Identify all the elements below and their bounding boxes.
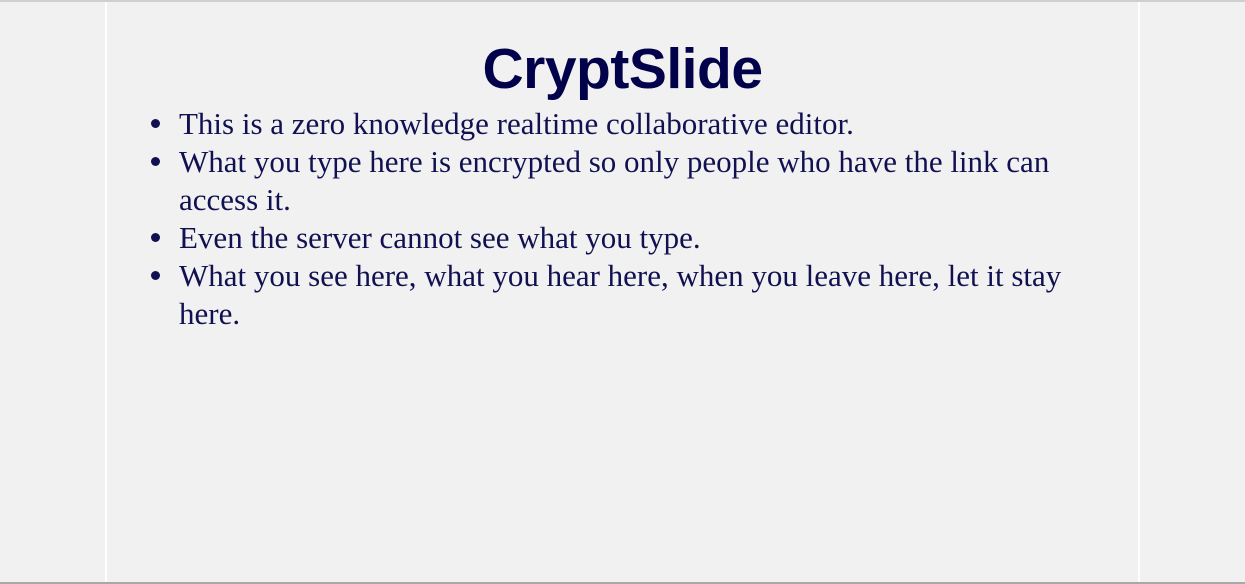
slide-canvas[interactable]: CryptSlide This is a zero knowledge real… — [105, 2, 1140, 582]
slide-bullet-list: This is a zero knowledge realtime collab… — [107, 105, 1138, 333]
bullet-dot-icon — [151, 157, 160, 166]
slide-gutter-right — [1140, 2, 1245, 582]
presentation-viewport: CryptSlide This is a zero knowledge real… — [0, 0, 1245, 584]
list-item[interactable]: This is a zero knowledge realtime collab… — [107, 105, 1138, 143]
bullet-dot-icon — [151, 119, 160, 128]
list-item-text: Even the server cannot see what you type… — [179, 219, 1096, 257]
list-item[interactable]: What you type here is encrypted so only … — [107, 143, 1138, 219]
slide-title[interactable]: CryptSlide — [107, 2, 1138, 98]
slide-gutter-left — [0, 2, 105, 582]
bullet-dot-icon — [151, 233, 160, 242]
list-item[interactable]: What you see here, what you hear here, w… — [107, 257, 1138, 333]
bullet-dot-icon — [151, 271, 160, 280]
list-item-text: This is a zero knowledge realtime collab… — [179, 105, 1096, 143]
list-item-text: What you see here, what you hear here, w… — [179, 257, 1096, 333]
list-item[interactable]: Even the server cannot see what you type… — [107, 219, 1138, 257]
list-item-text: What you type here is encrypted so only … — [179, 143, 1096, 219]
